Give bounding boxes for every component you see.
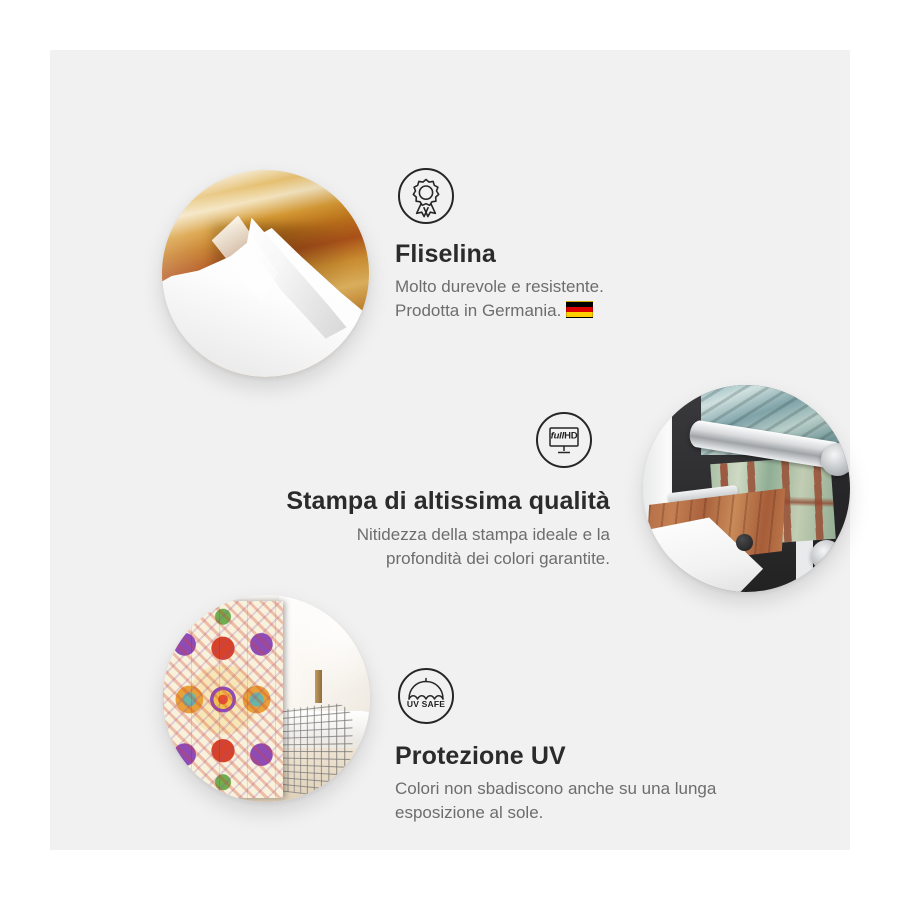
fullhd-monitor-icon: fullHD bbox=[536, 412, 592, 468]
feature-print-quality: fullHD Stampa di altissima qualità Nitid… bbox=[230, 412, 610, 571]
photo-circle-fleece bbox=[162, 170, 369, 377]
feature-description: Nitidezza della stampa ideale e la profo… bbox=[230, 523, 610, 571]
fullhd-label: fullHD bbox=[551, 430, 578, 441]
feature-title: Protezione UV bbox=[395, 742, 716, 771]
promo-page: Fliselina Molto durevole e resistente. P… bbox=[0, 0, 900, 900]
feature-description: Colori non sbadiscono anche su una lunga… bbox=[395, 777, 716, 825]
feature-fleece: Fliselina Molto durevole e resistente. P… bbox=[395, 168, 604, 323]
photo-circle-room bbox=[163, 595, 370, 802]
uv-safe-label: UV SAFE bbox=[407, 699, 445, 709]
feature-title: Fliselina bbox=[395, 240, 604, 269]
feature-uv-protection: UV SAFE Protezione UV Colori non sbadisc… bbox=[395, 668, 716, 825]
uv-safe-umbrella-icon: UV SAFE bbox=[398, 668, 454, 724]
feature-title: Stampa di altissima qualità bbox=[230, 487, 610, 516]
photo-circle-printer bbox=[643, 385, 850, 592]
award-medal-icon bbox=[398, 168, 454, 224]
feature-description: Molto durevole e resistente. Prodotta in… bbox=[395, 275, 604, 323]
german-flag-icon bbox=[566, 301, 593, 318]
content-canvas: Fliselina Molto durevole e resistente. P… bbox=[50, 50, 850, 850]
